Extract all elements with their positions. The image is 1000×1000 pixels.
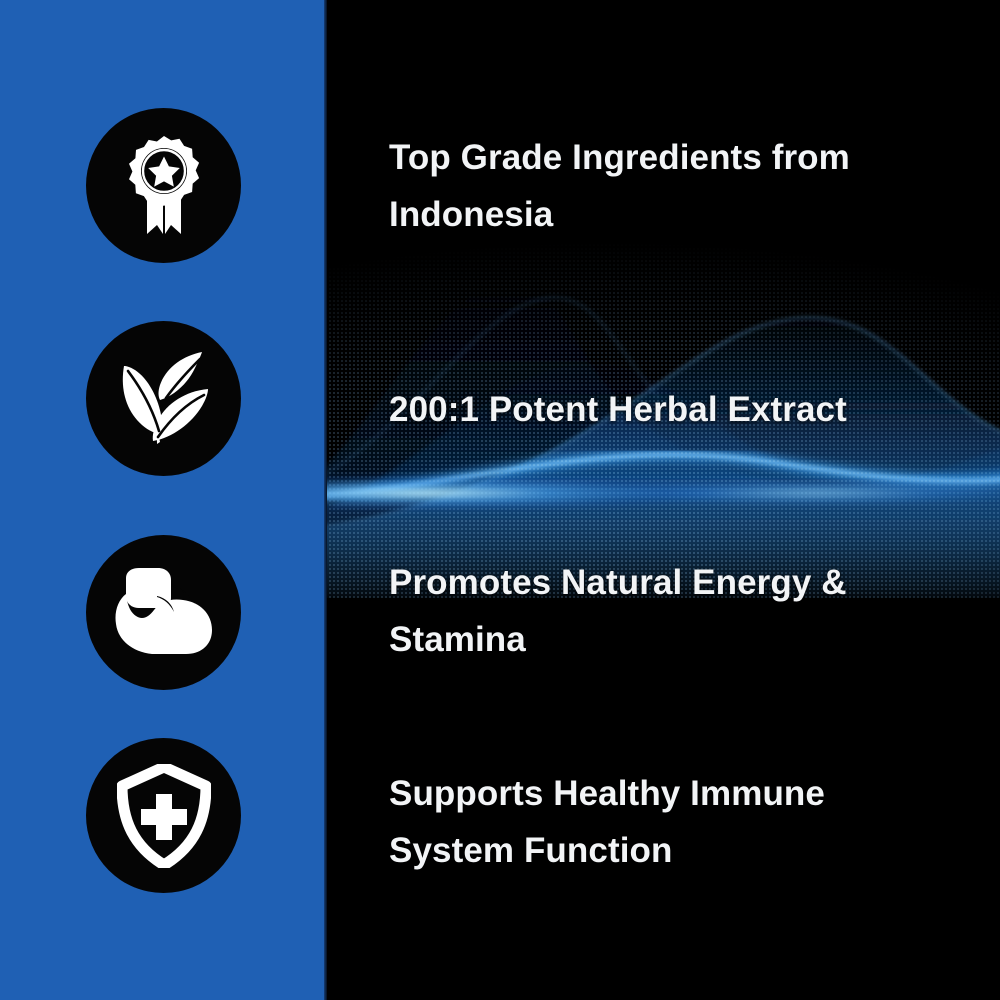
feature-text-2: 200:1 Potent Herbal Extract [389, 382, 929, 439]
leaf-plant-icon [116, 349, 212, 449]
leaf-plant-icon-disc [86, 321, 241, 476]
feature-text-4: Supports Healthy Immune System Function [389, 766, 929, 879]
shield-cross-icon [117, 764, 211, 868]
award-ribbon-icon [116, 134, 212, 238]
product-benefits-infographic: Top Grade Ingredients from Indonesia 200… [0, 0, 1000, 1000]
flexed-bicep-icon [112, 568, 216, 658]
award-ribbon-icon-disc [86, 108, 241, 263]
content-stage: Top Grade Ingredients from Indonesia 200… [327, 0, 1000, 1000]
feature-text-1: Top Grade Ingredients from Indonesia [389, 130, 929, 243]
flexed-bicep-icon-disc [86, 535, 241, 690]
feature-text-3: Promotes Natural Energy & Stamina [389, 555, 929, 668]
shield-cross-icon-disc [86, 738, 241, 893]
